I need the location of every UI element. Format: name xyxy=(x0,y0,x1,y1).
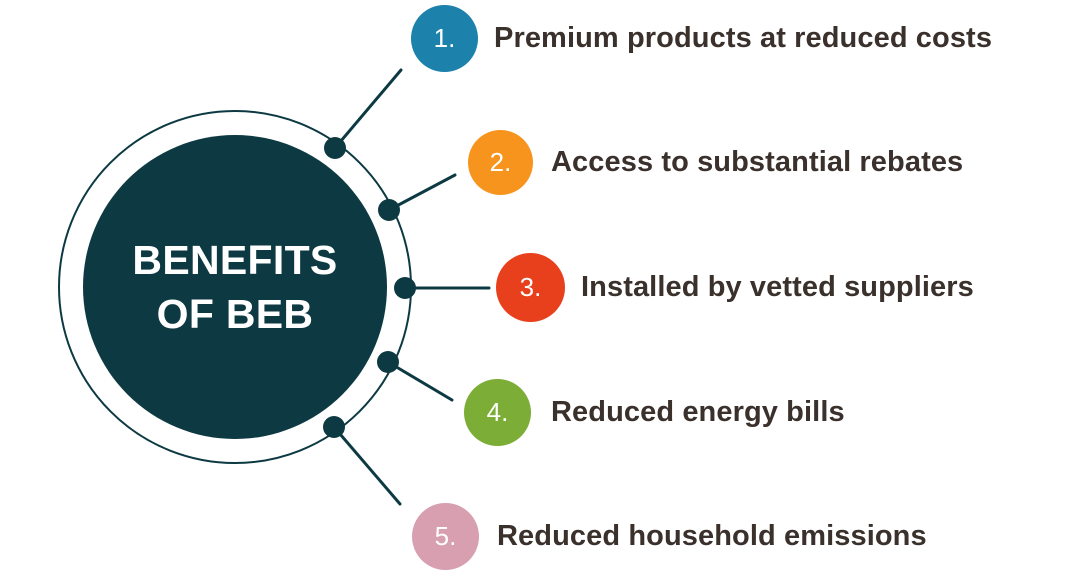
hub-title: BENEFITS OF BEB xyxy=(132,233,337,341)
benefit-item[interactable]: 4.Reduced energy bills xyxy=(464,379,845,446)
connector-line xyxy=(334,427,400,504)
benefit-item[interactable]: 1.Premium products at reduced costs xyxy=(411,5,992,72)
benefit-label: Installed by vetted suppliers xyxy=(581,271,974,304)
benefit-label: Premium products at reduced costs xyxy=(494,22,992,55)
benefit-number-badge: 3. xyxy=(496,253,565,322)
benefit-item[interactable]: 3.Installed by vetted suppliers xyxy=(496,253,974,322)
hub-circle: BENEFITS OF BEB xyxy=(83,135,387,439)
benefit-label: Reduced household emissions xyxy=(497,520,927,553)
connector-line xyxy=(389,175,455,210)
benefits-infographic: BENEFITS OF BEB 1.Premium products at re… xyxy=(0,0,1080,574)
benefit-label: Reduced energy bills xyxy=(551,396,845,429)
benefit-number-badge: 5. xyxy=(412,503,479,570)
connector-line xyxy=(335,70,401,148)
benefit-number-badge: 2. xyxy=(468,130,533,195)
connector-line xyxy=(388,362,452,400)
benefit-item[interactable]: 5.Reduced household emissions xyxy=(412,503,927,570)
benefit-number-badge: 4. xyxy=(464,379,531,446)
benefit-number-badge: 1. xyxy=(411,5,478,72)
benefit-item[interactable]: 2.Access to substantial rebates xyxy=(468,130,963,195)
benefit-label: Access to substantial rebates xyxy=(551,146,963,179)
